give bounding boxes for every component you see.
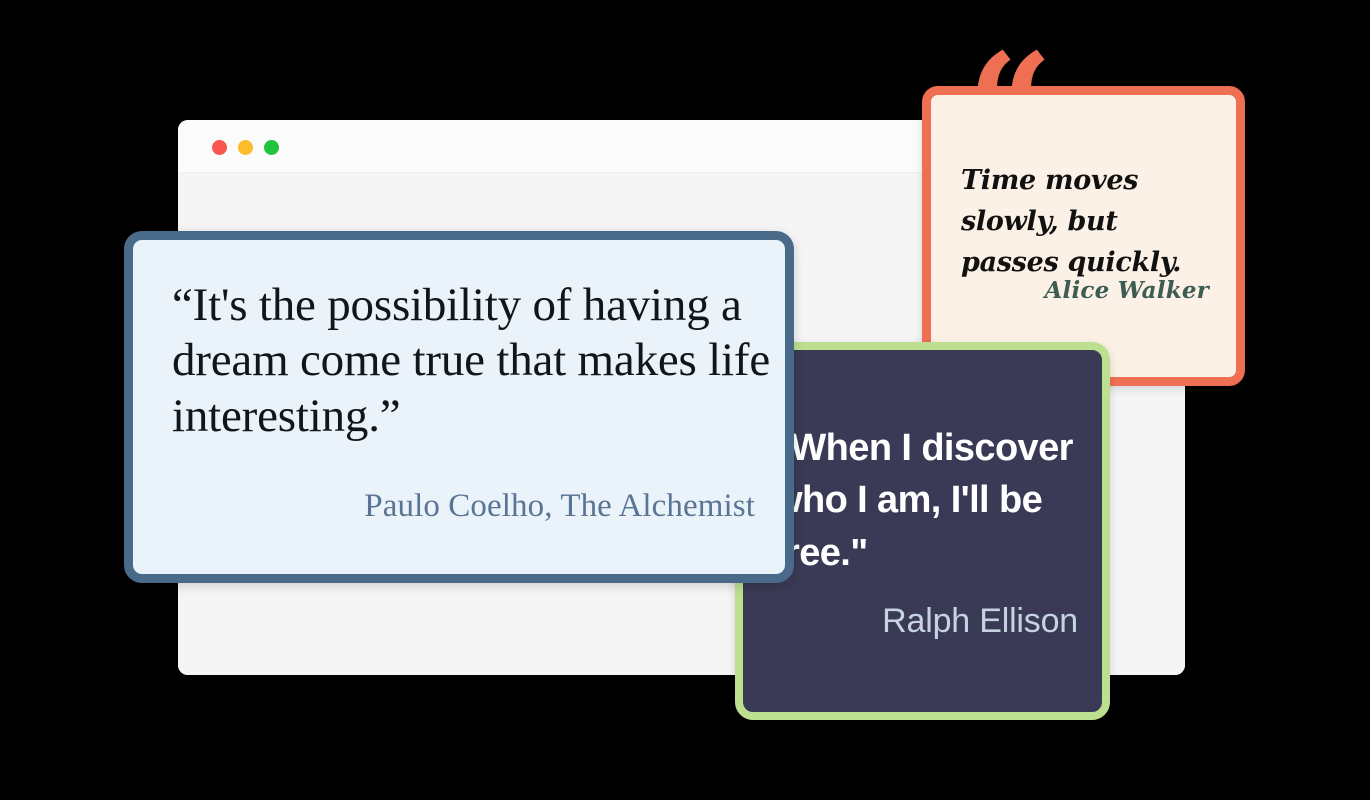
quote-text: “It's the possibility of having a dream … bbox=[172, 278, 772, 444]
quote-cards-illustration: “ Time moves slowly, but passes quickly.… bbox=[0, 0, 1370, 800]
quote-author: Ralph Ellison bbox=[882, 602, 1078, 641]
quote-card-alice-walker[interactable]: “ Time moves slowly, but passes quickly.… bbox=[922, 86, 1245, 386]
quote-author: Paulo Coelho, The Alchemist bbox=[364, 488, 755, 525]
window-controls bbox=[212, 140, 279, 155]
close-dot[interactable] bbox=[212, 140, 227, 155]
quote-author: Alice Walker bbox=[1044, 277, 1209, 304]
maximize-dot[interactable] bbox=[264, 140, 279, 155]
quote-text: Time moves slowly, but passes quickly. bbox=[961, 160, 1221, 283]
quote-card-paulo-coelho[interactable]: “It's the possibility of having a dream … bbox=[124, 231, 794, 583]
quote-text: "When I discover who I am, I'll be free.… bbox=[773, 422, 1103, 579]
minimize-dot[interactable] bbox=[238, 140, 253, 155]
